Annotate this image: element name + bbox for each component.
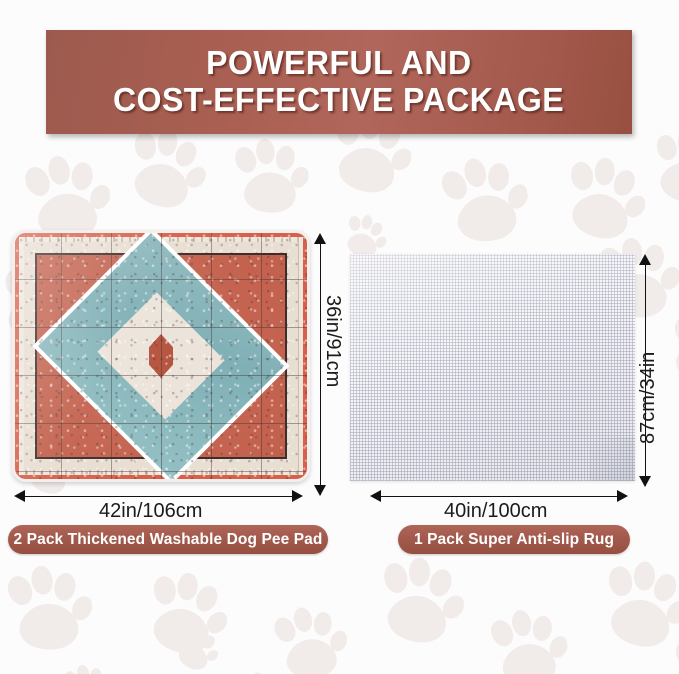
paw-print-icon bbox=[368, 548, 468, 652]
paw-print-icon bbox=[552, 147, 651, 249]
pee-pad-rug-graphic bbox=[12, 230, 310, 482]
pee-pad-caption: 2 Pack Thickened Washable Dog Pee Pad bbox=[8, 525, 328, 554]
paw-print-icon bbox=[666, 627, 679, 674]
rug-height-label: 87cm/34in bbox=[637, 352, 660, 444]
headline-line-2: COST-EFFECTIVE PACKAGE bbox=[113, 82, 564, 119]
paw-print-icon bbox=[262, 596, 353, 674]
headline-line-1: POWERFUL AND bbox=[206, 45, 471, 82]
rug-width-dimension-line bbox=[380, 496, 623, 497]
paw-print-icon bbox=[226, 666, 287, 674]
paw-print-icon bbox=[0, 555, 97, 660]
paw-print-icon bbox=[659, 305, 679, 391]
pad-height-label: 36in/91cm bbox=[321, 295, 344, 387]
paw-print-icon bbox=[225, 131, 312, 221]
paw-print-icon bbox=[57, 658, 115, 674]
rug-fold-lines bbox=[15, 233, 307, 479]
pad-width-dimension-line bbox=[24, 496, 298, 497]
anti-slip-rug-caption: 1 Pack Super Anti-slip Rug bbox=[398, 525, 630, 554]
pee-pad-image bbox=[12, 230, 310, 482]
pad-width-label: 42in/106cm bbox=[99, 500, 202, 523]
mesh-corner-shadow bbox=[589, 437, 635, 481]
product-infographic: POWERFUL AND COST-EFFECTIVE PACKAGE 36in… bbox=[0, 0, 679, 674]
paw-print-icon bbox=[427, 143, 537, 256]
paw-print-icon bbox=[167, 618, 226, 674]
mesh-graphic bbox=[350, 254, 635, 481]
headline-banner: POWERFUL AND COST-EFFECTIVE PACKAGE bbox=[46, 30, 632, 134]
paw-print-icon bbox=[479, 599, 573, 674]
paw-print-icon bbox=[133, 561, 235, 666]
paw-print-icon bbox=[590, 551, 679, 657]
paw-print-icon bbox=[644, 123, 679, 210]
anti-slip-rug-image bbox=[350, 254, 635, 481]
rug-width-label: 40in/100cm bbox=[444, 500, 547, 523]
